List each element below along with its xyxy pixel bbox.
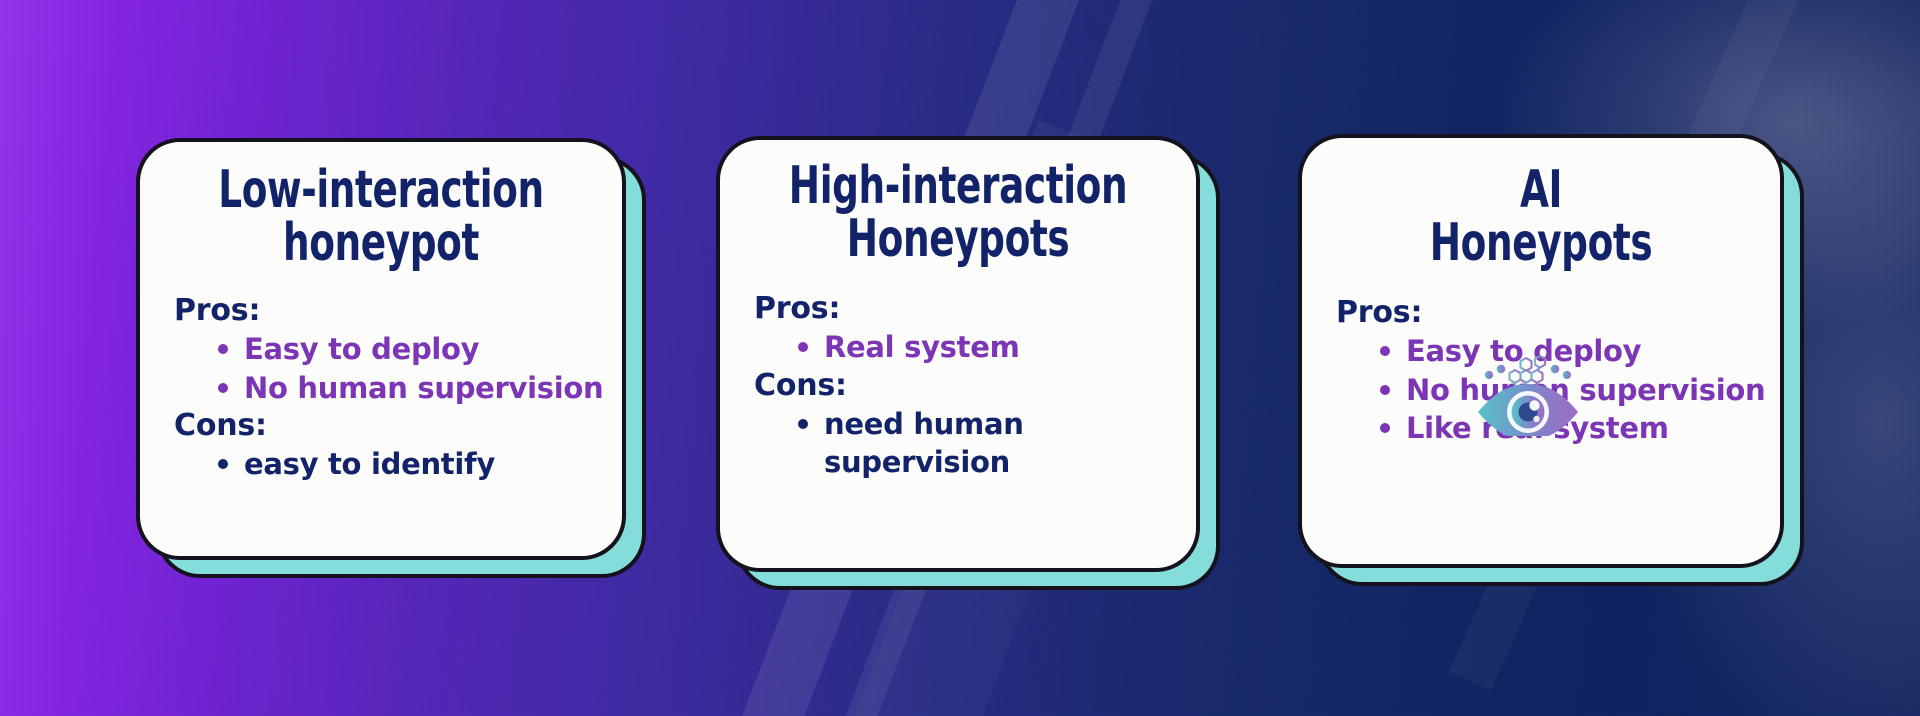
list-item: Easy to deploy — [214, 330, 622, 368]
section-label-pros: Pros: — [174, 292, 622, 330]
card-body: Pros: Real system Cons: need human super… — [720, 290, 1196, 482]
card-title-line: Low-interaction — [188, 164, 574, 217]
card-title-line: AI — [1350, 164, 1732, 217]
card-title-line: Honeypots — [1350, 217, 1732, 270]
section-label-cons: Cons: — [174, 407, 622, 445]
pros-list: Easy to deploy No human supervision — [214, 330, 622, 407]
card-title-line: honeypot — [188, 217, 574, 270]
list-item: Real system — [794, 328, 1196, 366]
list-item: No human supervision — [214, 369, 622, 407]
card-title-line: High-interaction — [768, 160, 1149, 213]
ai-honeypot-eye-icon — [1472, 350, 1584, 436]
card-title: Low-interaction honeypot — [188, 142, 574, 270]
card-ai-honeypots: AI Honeypots Pros: Easy to deploy No hum… — [1298, 134, 1784, 568]
pros-list: Real system — [794, 328, 1196, 366]
cons-list: need human supervision — [794, 405, 1196, 482]
card-high-interaction-honeypots: High-interaction Honeypots Pros: Real sy… — [716, 136, 1200, 572]
card-surface: Low-interaction honeypot Pros: Easy to d… — [136, 138, 626, 560]
card-title: High-interaction Honeypots — [768, 140, 1149, 266]
card-title: AI Honeypots — [1350, 138, 1732, 270]
card-title-line: Honeypots — [768, 213, 1149, 266]
section-label-cons: Cons: — [754, 367, 1196, 405]
section-label-pros: Pros: — [1336, 294, 1780, 332]
card-surface: High-interaction Honeypots Pros: Real sy… — [716, 136, 1200, 572]
card-body: Pros: Easy to deploy No human supervisio… — [140, 292, 622, 484]
list-item: easy to identify — [214, 445, 622, 483]
card-surface: AI Honeypots Pros: Easy to deploy No hum… — [1298, 134, 1784, 568]
cons-list: easy to identify — [214, 445, 622, 483]
section-label-pros: Pros: — [754, 290, 1196, 328]
card-low-interaction-honeypot: Low-interaction honeypot Pros: Easy to d… — [136, 138, 626, 560]
list-item: need human supervision — [794, 405, 1196, 482]
infographic-canvas: Low-interaction honeypot Pros: Easy to d… — [0, 0, 1920, 716]
